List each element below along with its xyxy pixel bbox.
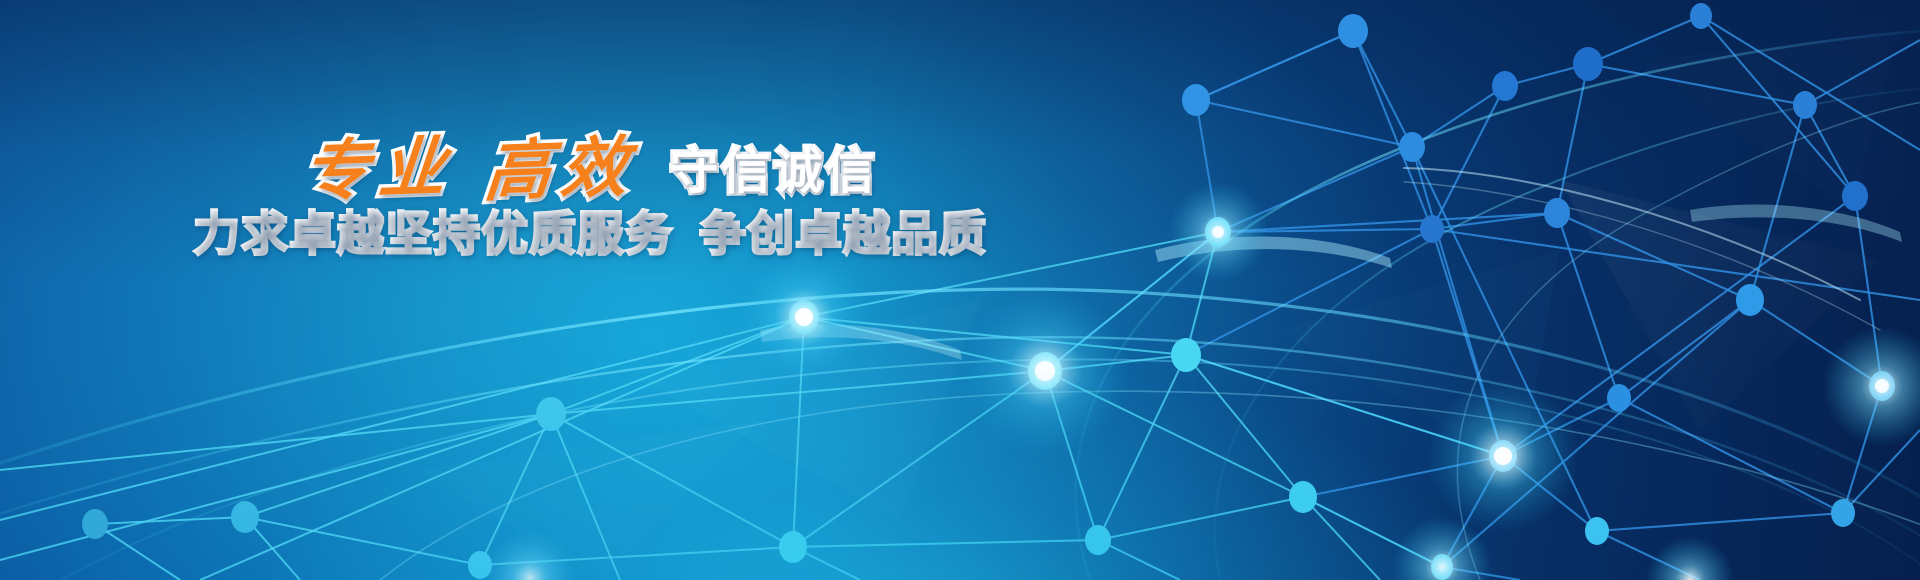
hero-banner: 专业 高效 守信诚信 力求卓越坚持优质服务争创卓越品质 — [0, 0, 1920, 580]
background-vignette — [0, 0, 1920, 580]
